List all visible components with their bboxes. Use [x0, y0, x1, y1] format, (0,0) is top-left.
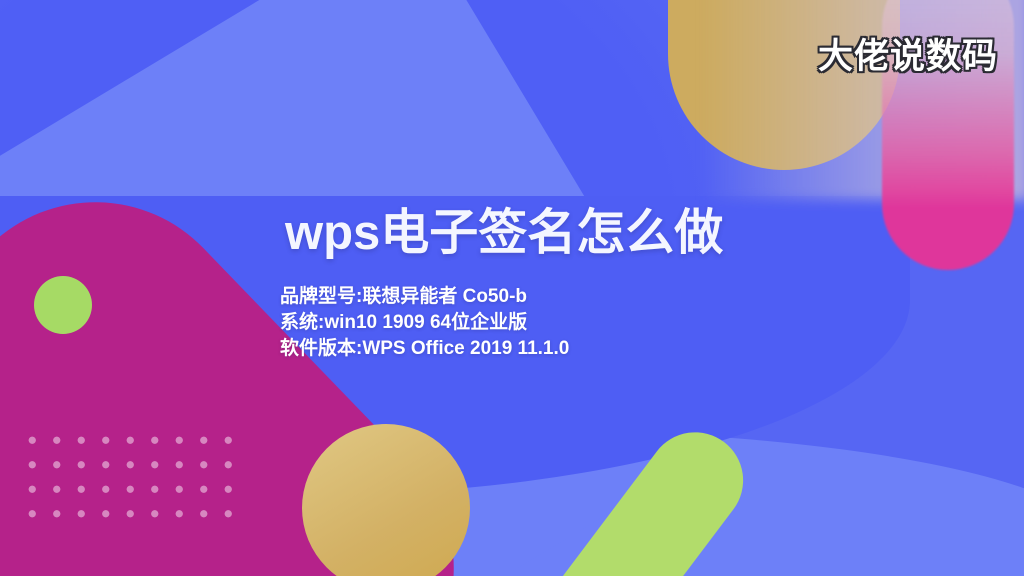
spec-line-brand-model: 品牌型号:联想异能者 Co50-b: [280, 284, 569, 310]
green-circle-shape: [34, 276, 92, 334]
channel-watermark: 大佬说数码: [818, 28, 998, 79]
slide-canvas: 大佬说数码 wps电子签名怎么做 品牌型号:联想异能者 Co50-b 系统:wi…: [0, 0, 1024, 576]
slide-title: wps电子签名怎么做: [285, 193, 723, 264]
spec-list: 品牌型号:联想异能者 Co50-b 系统:win10 1909 64位企业版 软…: [280, 284, 569, 362]
dot-grid-pattern: [16, 424, 238, 534]
spec-line-os: 系统:win10 1909 64位企业版: [280, 310, 569, 336]
spec-line-software-version: 软件版本:WPS Office 2019 11.1.0: [280, 336, 569, 362]
